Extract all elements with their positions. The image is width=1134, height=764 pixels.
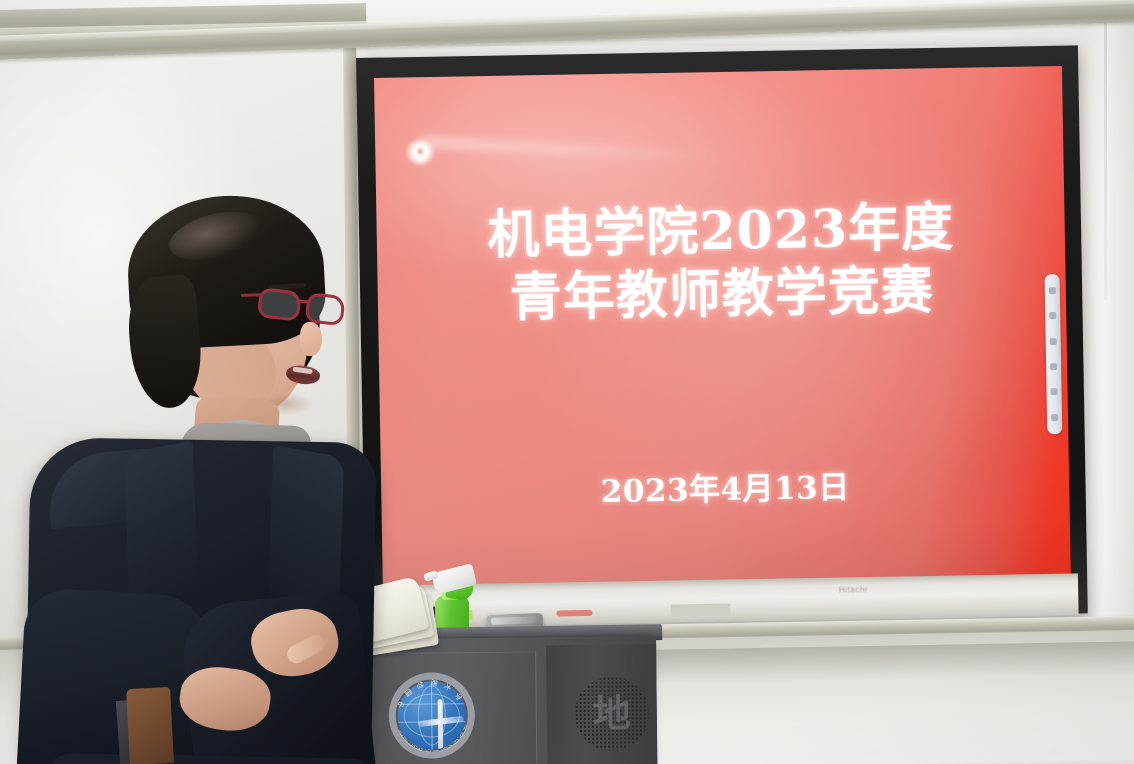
slide-title: 机电学院2023年度 青年教师教学竞赛	[376, 194, 1066, 333]
display-brand-label: Hitachi	[492, 579, 1134, 601]
menu-icon[interactable]	[1051, 414, 1058, 421]
logo-text-en: CHINA UNIVERSITY OF GEOSCIENCES	[388, 672, 475, 759]
eyeglass-lens-left	[257, 287, 302, 321]
slide-title-line-1: 机电学院2023年度	[376, 194, 1065, 269]
display-sensor-strip	[670, 603, 730, 616]
arm-left	[14, 587, 212, 764]
china-university-of-geosciences-logo: 中国地质大学 CHINA UNIVERSITY OF GEOSCIENCES	[388, 672, 475, 759]
screen-side-toolbar[interactable]	[1045, 274, 1063, 434]
display-power-indicator	[556, 610, 592, 617]
slide-date: 2023年4月13日	[381, 458, 1070, 515]
slide-title-line-2: 青年教师教学竞赛	[377, 257, 1066, 332]
emblem-glyph: 地	[593, 690, 631, 736]
undo-icon[interactable]	[1051, 389, 1058, 396]
wall-seam	[1104, 0, 1107, 300]
photo-scene: 机电学院2023年度 青年教师教学竞赛 2023年4月13日 Hitachi	[0, 0, 1134, 764]
select-icon[interactable]	[1050, 363, 1057, 370]
background-object-brown	[126, 687, 174, 764]
pen-icon[interactable]	[1049, 287, 1056, 294]
shape-icon[interactable]	[1050, 338, 1057, 345]
presentation-screen[interactable]: 机电学院2023年度 青年教师教学竞赛 2023年4月13日	[374, 66, 1071, 590]
screen-light-streak	[421, 137, 721, 163]
podium-perforated-emblem: 地	[574, 676, 649, 751]
eraser-icon[interactable]	[1049, 313, 1056, 320]
wall-right	[1080, 0, 1134, 620]
jacket-lapel-left	[124, 440, 198, 605]
nose	[300, 322, 322, 356]
